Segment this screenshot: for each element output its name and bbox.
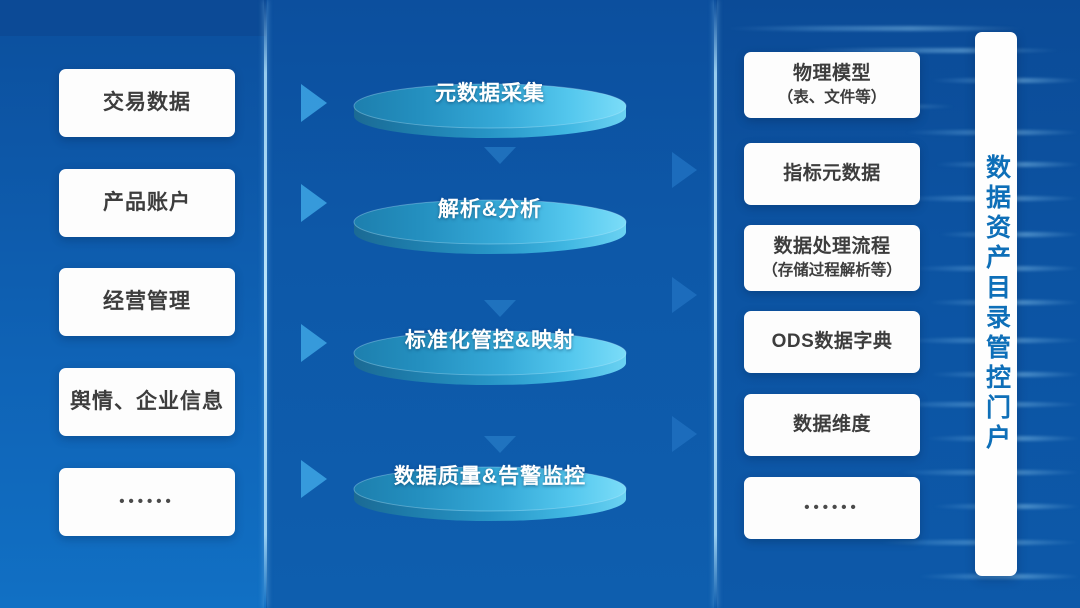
diagram-canvas: 交易数据 产品账户 经营管理 舆情、企业信息 •••••• [0, 0, 1080, 608]
card-label: 交易数据 [103, 90, 191, 117]
card-label-line2: （表、文件等） [778, 88, 887, 108]
portal-banner[interactable]: 数据资产目录管控门户 [975, 32, 1017, 576]
card-label: 经营管理 [103, 289, 191, 316]
pipeline-stage-parse-analyze[interactable]: 解析&分析 [352, 196, 628, 258]
source-card-business-management[interactable]: 经营管理 [59, 268, 235, 336]
source-card-transaction-data[interactable]: 交易数据 [59, 69, 235, 137]
divider-left [264, 0, 267, 608]
output-card-indicator-metadata[interactable]: 指标元数据 [744, 143, 920, 205]
stage-label: 数据质量&告警监控 [352, 460, 628, 490]
portal-banner-label: 数据资产目录管控门户 [984, 154, 1009, 454]
stage-label: 解析&分析 [352, 193, 628, 223]
card-label-line2: （存储过程解析等） [762, 261, 902, 281]
source-card-product-account[interactable]: 产品账户 [59, 169, 235, 237]
flow-arrow-right-3 [672, 416, 697, 452]
card-label: 舆情、企业信息 [70, 389, 224, 416]
output-card-physical-model[interactable]: 物理模型 （表、文件等） [744, 52, 920, 118]
pipeline-chevron-3 [484, 436, 516, 453]
pipeline-stage-quality-alert-monitor[interactable]: 数据质量&告警监控 [352, 463, 628, 525]
pipeline-chevron-2 [484, 300, 516, 317]
output-card-data-dimension[interactable]: 数据维度 [744, 394, 920, 456]
card-label-line1: •••••• [804, 498, 860, 517]
card-label-line1: 数据维度 [793, 413, 871, 437]
output-card-more[interactable]: •••••• [744, 477, 920, 539]
pipeline-stage-metadata-collection[interactable]: 元数据采集 [352, 80, 628, 142]
flow-arrow-left-3 [301, 324, 327, 362]
card-label-line1: 数据处理流程 [773, 235, 890, 259]
source-card-public-opinion-enterprise-info[interactable]: 舆情、企业信息 [59, 368, 235, 436]
flow-arrow-left-1 [301, 84, 327, 122]
flow-arrow-right-2 [672, 277, 697, 313]
output-card-ods-data-dictionary[interactable]: ODS数据字典 [744, 311, 920, 373]
source-card-more[interactable]: •••••• [59, 468, 235, 536]
stage-label: 标准化管控&映射 [352, 324, 628, 354]
card-label: •••••• [119, 492, 175, 511]
output-card-data-processing-flow[interactable]: 数据处理流程 （存储过程解析等） [744, 225, 920, 291]
stage-label: 元数据采集 [352, 77, 628, 107]
divider-right [714, 0, 717, 608]
flow-arrow-left-4 [301, 460, 327, 498]
card-label-line1: 物理模型 [793, 62, 871, 86]
pipeline-chevron-1 [484, 147, 516, 164]
pipeline-stage-standardize-map[interactable]: 标准化管控&映射 [352, 327, 628, 389]
card-label: 产品账户 [103, 190, 191, 217]
flow-arrow-right-1 [672, 152, 697, 188]
card-label-line1: 指标元数据 [783, 162, 881, 186]
card-label-line1: ODS数据字典 [772, 330, 893, 354]
flow-arrow-left-2 [301, 184, 327, 222]
